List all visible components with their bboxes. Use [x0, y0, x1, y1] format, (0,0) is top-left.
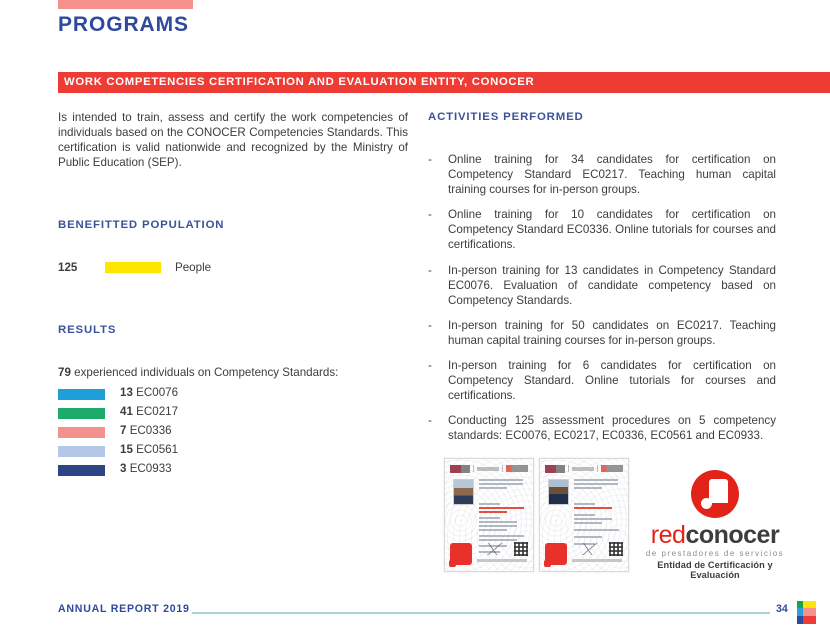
legend-swatch-ec0561: [58, 446, 105, 457]
bullet-dash-icon: -: [428, 413, 432, 428]
report-page: PROGRAMS WORK COMPETENCIES CERTIFICATION…: [0, 0, 830, 641]
divider: [597, 465, 598, 472]
educacion-logo-icon: [477, 467, 499, 471]
activities-performed-heading: ACTIVITIES PERFORMED: [428, 111, 584, 123]
conocer-logo-icon: [506, 465, 528, 472]
activity-text: In-person training for 6 candidates for …: [448, 359, 776, 402]
gobierno-logo-icon: [545, 465, 565, 473]
activity-item: - Conducting 125 assessment procedures o…: [428, 413, 776, 443]
activity-text: In-person training for 50 candidates on …: [448, 319, 776, 347]
activity-text: Conducting 125 assessment procedures on …: [448, 414, 776, 442]
page-number: 34: [776, 603, 788, 615]
legend-swatch-ec0933: [58, 465, 105, 476]
left-column: Is intended to train, assess and certify…: [58, 110, 408, 170]
page-title: PROGRAMS: [58, 13, 189, 37]
certificate-header-logos: [450, 464, 528, 473]
results-legend: 13 EC0076 41 EC0217 7 EC0336 15 EC0561 3…: [58, 386, 358, 481]
benefitted-population-row: 125 People: [58, 260, 408, 276]
signature-icon: [576, 543, 602, 555]
qr-code-icon: [514, 542, 528, 556]
divider: [568, 465, 569, 472]
header-accent-rule: [58, 0, 193, 9]
redconocer-logo: redconocer de prestadores de servicios E…: [640, 470, 790, 580]
logo-word-dark: conocer: [685, 521, 779, 549]
divider: [502, 465, 503, 472]
certificate-photo: [548, 479, 569, 505]
activities-list: - Online training for 34 candidates for …: [428, 152, 776, 454]
legend-swatch-ec0336: [58, 427, 105, 438]
footer-logo-cell-red: [803, 616, 816, 624]
results-summary-number: 79: [58, 366, 71, 379]
legend-label-ec0076: 13 EC0076: [120, 386, 178, 399]
activity-item: - In-person training for 50 candidates o…: [428, 318, 776, 348]
gobierno-logo-icon: [450, 465, 470, 473]
bullet-dash-icon: -: [428, 358, 432, 373]
certificate-body-lines: [574, 503, 621, 547]
bullet-dash-icon: -: [428, 318, 432, 333]
footer-rule: [192, 612, 770, 614]
activity-text: Online training for 10 candidates for ce…: [448, 208, 776, 251]
red-dot-graphic: [449, 560, 456, 567]
divider: [473, 465, 474, 472]
certificate-photo: [453, 479, 474, 505]
bullet-dash-icon: -: [428, 207, 432, 222]
results-summary: 79 experienced individuals on Competency…: [58, 366, 338, 379]
activity-item: - In-person training for 13 candidates i…: [428, 263, 776, 308]
benefitted-population-bar: [105, 262, 161, 273]
redconocer-mark-icon: [691, 470, 739, 518]
redconocer-wordmark: redconocer: [640, 522, 790, 548]
legend-item: 15 EC0561: [58, 443, 358, 462]
results-summary-text: experienced individuals on Competency St…: [71, 366, 338, 379]
legend-swatch-ec0217: [58, 408, 105, 419]
legend-label-ec0933: 3 EC0933: [120, 462, 172, 475]
logo-knockout-shape: [709, 479, 728, 503]
benefitted-population-unit: People: [175, 261, 211, 274]
legend-label-ec0217: 41 EC0217: [120, 405, 178, 418]
intro-paragraph: Is intended to train, assess and certify…: [58, 110, 408, 170]
legend-label-ec0561: 15 EC0561: [120, 443, 178, 456]
benefitted-population-value: 125: [58, 261, 77, 274]
certificate-header-logos: [545, 464, 623, 473]
legend-item: 13 EC0076: [58, 386, 358, 405]
conocer-logo-icon: [601, 465, 623, 472]
educacion-logo-icon: [572, 467, 594, 471]
footer-brand-icon: [797, 601, 816, 624]
activity-item: - In-person training for 6 candidates fo…: [428, 358, 776, 403]
activity-text: In-person training for 13 candidates in …: [448, 264, 776, 307]
logo-tagline: de prestadores de servicios: [640, 549, 790, 558]
certificate-footer-line: [572, 559, 622, 562]
footer-logo-cell-pink: [803, 608, 816, 616]
results-heading: RESULTS: [58, 324, 116, 336]
red-dot-graphic: [544, 560, 551, 567]
section-banner: WORK COMPETENCIES CERTIFICATION AND EVAL…: [58, 72, 830, 93]
logo-subtitle: Entidad de Certificación y Evaluación: [640, 560, 790, 580]
qr-code-icon: [609, 542, 623, 556]
benefitted-population-heading: BENEFITTED POPULATION: [58, 219, 224, 231]
activity-item: - Online training for 10 candidates for …: [428, 207, 776, 252]
certificate-thumbnail-female: [444, 458, 534, 572]
bullet-dash-icon: -: [428, 152, 432, 167]
signature-icon: [481, 543, 507, 555]
certificate-title-lines: [479, 479, 525, 491]
activity-text: Online training for 34 candidates for ce…: [448, 153, 776, 196]
footer-report-label: ANNUAL REPORT 2019: [58, 603, 190, 615]
logo-word-red: red: [651, 521, 686, 549]
certificate-footer-line: [477, 559, 527, 562]
activity-item: - Online training for 34 candidates for …: [428, 152, 776, 197]
certificate-thumbnail-male: [539, 458, 629, 572]
legend-item: 7 EC0336: [58, 424, 358, 443]
footer-logo-cell-yellow: [803, 601, 816, 608]
legend-swatch-ec0076: [58, 389, 105, 400]
legend-item: 3 EC0933: [58, 462, 358, 481]
logo-knockout-dot: [701, 498, 712, 509]
legend-label-ec0336: 7 EC0336: [120, 424, 172, 437]
bullet-dash-icon: -: [428, 263, 432, 278]
section-banner-label: WORK COMPETENCIES CERTIFICATION AND EVAL…: [64, 76, 534, 88]
legend-item: 41 EC0217: [58, 405, 358, 424]
certificate-title-lines: [574, 479, 620, 491]
